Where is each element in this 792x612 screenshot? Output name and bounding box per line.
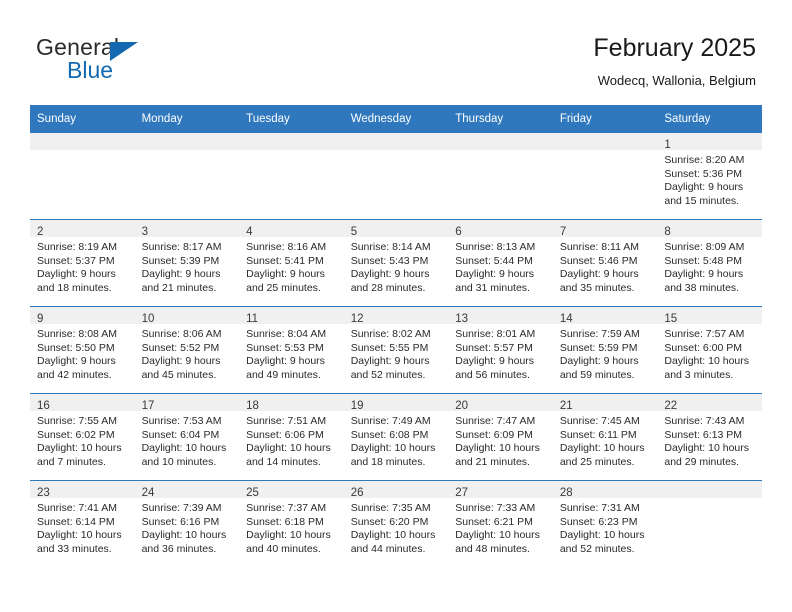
daylight-duration-line1: Daylight: 10 hours xyxy=(560,529,652,543)
day-number-band: 27 xyxy=(448,481,553,498)
daylight-duration-line2: and 49 minutes. xyxy=(246,369,338,383)
day-number-band: 12 xyxy=(344,307,449,324)
day-details: Sunrise: 7:47 AMSunset: 6:09 PMDaylight:… xyxy=(448,411,553,469)
day-details: Sunrise: 8:06 AMSunset: 5:52 PMDaylight:… xyxy=(135,324,240,382)
daylight-duration-line2: and 25 minutes. xyxy=(560,456,652,470)
calendar-day-cell-empty xyxy=(30,133,135,220)
day-number: 19 xyxy=(351,400,364,412)
day-number: 28 xyxy=(560,487,573,499)
calendar-body: 1Sunrise: 8:20 AMSunset: 5:36 PMDaylight… xyxy=(30,133,762,567)
day-details: Sunrise: 8:11 AMSunset: 5:46 PMDaylight:… xyxy=(553,237,658,295)
day-details: Sunrise: 8:04 AMSunset: 5:53 PMDaylight:… xyxy=(239,324,344,382)
sunrise-time: Sunrise: 7:47 AM xyxy=(455,415,547,429)
day-number-band xyxy=(135,133,240,150)
daylight-duration-line2: and 56 minutes. xyxy=(455,369,547,383)
day-number-band xyxy=(553,133,658,150)
calendar-day-cell[interactable]: 21Sunrise: 7:45 AMSunset: 6:11 PMDayligh… xyxy=(553,394,658,481)
daylight-duration-line2: and 25 minutes. xyxy=(246,282,338,296)
day-number-band: 28 xyxy=(553,481,658,498)
calendar-week-row: 2Sunrise: 8:19 AMSunset: 5:37 PMDaylight… xyxy=(30,220,762,307)
calendar-day-cell[interactable]: 18Sunrise: 7:51 AMSunset: 6:06 PMDayligh… xyxy=(239,394,344,481)
sunrise-time: Sunrise: 7:55 AM xyxy=(37,415,129,429)
sunrise-time: Sunrise: 7:41 AM xyxy=(37,502,129,516)
daylight-duration-line1: Daylight: 9 hours xyxy=(246,355,338,369)
daylight-duration-line1: Daylight: 9 hours xyxy=(455,355,547,369)
weekday-header-sunday: Sunday xyxy=(30,105,135,133)
sunset-time: Sunset: 6:16 PM xyxy=(142,516,234,530)
weekday-header-row: Sunday Monday Tuesday Wednesday Thursday… xyxy=(30,105,762,133)
sunrise-time: Sunrise: 7:49 AM xyxy=(351,415,443,429)
daylight-duration-line2: and 18 minutes. xyxy=(351,456,443,470)
daylight-duration-line2: and 28 minutes. xyxy=(351,282,443,296)
daylight-duration-line1: Daylight: 9 hours xyxy=(142,268,234,282)
day-number-band: 22 xyxy=(657,394,762,411)
weekday-header-saturday: Saturday xyxy=(657,105,762,133)
calendar-day-cell[interactable]: 1Sunrise: 8:20 AMSunset: 5:36 PMDaylight… xyxy=(657,133,762,220)
day-number: 17 xyxy=(142,400,155,412)
sunset-time: Sunset: 6:06 PM xyxy=(246,429,338,443)
day-details: Sunrise: 7:57 AMSunset: 6:00 PMDaylight:… xyxy=(657,324,762,382)
day-details: Sunrise: 7:39 AMSunset: 6:16 PMDaylight:… xyxy=(135,498,240,556)
daylight-duration-line2: and 10 minutes. xyxy=(142,456,234,470)
daylight-duration-line1: Daylight: 10 hours xyxy=(351,442,443,456)
calendar-day-cell[interactable]: 10Sunrise: 8:06 AMSunset: 5:52 PMDayligh… xyxy=(135,307,240,394)
day-details: Sunrise: 8:09 AMSunset: 5:48 PMDaylight:… xyxy=(657,237,762,295)
day-number: 8 xyxy=(664,226,670,238)
daylight-duration-line2: and 45 minutes. xyxy=(142,369,234,383)
daylight-duration-line2: and 44 minutes. xyxy=(351,543,443,557)
day-number-band: 7 xyxy=(553,220,658,237)
calendar-day-cell-empty xyxy=(448,133,553,220)
sunrise-time: Sunrise: 7:39 AM xyxy=(142,502,234,516)
sunrise-time: Sunrise: 7:51 AM xyxy=(246,415,338,429)
sunset-time: Sunset: 6:00 PM xyxy=(664,342,756,356)
daylight-duration-line1: Daylight: 10 hours xyxy=(455,529,547,543)
day-details: Sunrise: 8:20 AMSunset: 5:36 PMDaylight:… xyxy=(657,150,762,208)
sunset-time: Sunset: 5:39 PM xyxy=(142,255,234,269)
sunrise-time: Sunrise: 8:20 AM xyxy=(664,154,756,168)
day-details: Sunrise: 7:33 AMSunset: 6:21 PMDaylight:… xyxy=(448,498,553,556)
day-number: 4 xyxy=(246,226,252,238)
day-number-band xyxy=(344,133,449,150)
calendar-day-cell[interactable]: 26Sunrise: 7:35 AMSunset: 6:20 PMDayligh… xyxy=(344,481,449,568)
sunrise-time: Sunrise: 8:01 AM xyxy=(455,328,547,342)
weekday-header-monday: Monday xyxy=(135,105,240,133)
day-number-band xyxy=(657,481,762,498)
daylight-duration-line2: and 59 minutes. xyxy=(560,369,652,383)
sunrise-time: Sunrise: 8:08 AM xyxy=(37,328,129,342)
daylight-duration-line2: and 52 minutes. xyxy=(560,543,652,557)
daylight-duration-line1: Daylight: 9 hours xyxy=(560,355,652,369)
page-title: February 2025 xyxy=(336,34,756,63)
day-number-band: 8 xyxy=(657,220,762,237)
day-number: 9 xyxy=(37,313,43,325)
calendar-day-cell[interactable]: 20Sunrise: 7:47 AMSunset: 6:09 PMDayligh… xyxy=(448,394,553,481)
sunset-time: Sunset: 6:11 PM xyxy=(560,429,652,443)
sunset-time: Sunset: 5:48 PM xyxy=(664,255,756,269)
sunrise-time: Sunrise: 7:31 AM xyxy=(560,502,652,516)
daylight-duration-line2: and 21 minutes. xyxy=(455,456,547,470)
day-number-band: 3 xyxy=(135,220,240,237)
daylight-duration-line1: Daylight: 10 hours xyxy=(455,442,547,456)
sunrise-time: Sunrise: 8:09 AM xyxy=(664,241,756,255)
sunset-time: Sunset: 6:02 PM xyxy=(37,429,129,443)
calendar-day-cell[interactable]: 22Sunrise: 7:43 AMSunset: 6:13 PMDayligh… xyxy=(657,394,762,481)
daylight-duration-line1: Daylight: 9 hours xyxy=(37,268,129,282)
day-details: Sunrise: 7:35 AMSunset: 6:20 PMDaylight:… xyxy=(344,498,449,556)
sunset-time: Sunset: 6:20 PM xyxy=(351,516,443,530)
day-details: Sunrise: 8:17 AMSunset: 5:39 PMDaylight:… xyxy=(135,237,240,295)
day-details: Sunrise: 7:43 AMSunset: 6:13 PMDaylight:… xyxy=(657,411,762,469)
sunrise-time: Sunrise: 7:59 AM xyxy=(560,328,652,342)
day-details: Sunrise: 7:59 AMSunset: 5:59 PMDaylight:… xyxy=(553,324,658,382)
logo-triangle-icon xyxy=(110,42,138,61)
daylight-duration-line1: Daylight: 9 hours xyxy=(142,355,234,369)
calendar-day-cell[interactable]: 3Sunrise: 8:17 AMSunset: 5:39 PMDaylight… xyxy=(135,220,240,307)
day-details: Sunrise: 8:02 AMSunset: 5:55 PMDaylight:… xyxy=(344,324,449,382)
day-number: 7 xyxy=(560,226,566,238)
day-details: Sunrise: 8:01 AMSunset: 5:57 PMDaylight:… xyxy=(448,324,553,382)
general-blue-logo[interactable]: General Blue xyxy=(36,36,256,88)
day-number-band: 18 xyxy=(239,394,344,411)
day-number: 1 xyxy=(664,139,670,151)
day-details: Sunrise: 8:16 AMSunset: 5:41 PMDaylight:… xyxy=(239,237,344,295)
day-number-band: 24 xyxy=(135,481,240,498)
calendar-day-cell[interactable]: 6Sunrise: 8:13 AMSunset: 5:44 PMDaylight… xyxy=(448,220,553,307)
calendar-day-cell[interactable]: 24Sunrise: 7:39 AMSunset: 6:16 PMDayligh… xyxy=(135,481,240,568)
daylight-duration-line2: and 38 minutes. xyxy=(664,282,756,296)
daylight-duration-line1: Daylight: 9 hours xyxy=(37,355,129,369)
sunset-time: Sunset: 5:41 PM xyxy=(246,255,338,269)
daylight-duration-line1: Daylight: 9 hours xyxy=(246,268,338,282)
day-number-band: 4 xyxy=(239,220,344,237)
day-details: Sunrise: 8:08 AMSunset: 5:50 PMDaylight:… xyxy=(30,324,135,382)
day-number-band xyxy=(30,133,135,150)
daylight-duration-line2: and 35 minutes. xyxy=(560,282,652,296)
daylight-duration-line2: and 15 minutes. xyxy=(664,195,756,209)
weekday-header-thursday: Thursday xyxy=(448,105,553,133)
sunset-time: Sunset: 5:50 PM xyxy=(37,342,129,356)
logo-text-blue: Blue xyxy=(67,59,113,82)
calendar-day-cell[interactable]: 13Sunrise: 8:01 AMSunset: 5:57 PMDayligh… xyxy=(448,307,553,394)
calendar-day-cell-empty xyxy=(135,133,240,220)
sunrise-time: Sunrise: 7:57 AM xyxy=(664,328,756,342)
day-number-band: 25 xyxy=(239,481,344,498)
day-number: 6 xyxy=(455,226,461,238)
day-number: 23 xyxy=(37,487,50,499)
day-details: Sunrise: 7:49 AMSunset: 6:08 PMDaylight:… xyxy=(344,411,449,469)
calendar-day-cell[interactable]: 14Sunrise: 7:59 AMSunset: 5:59 PMDayligh… xyxy=(553,307,658,394)
day-number: 21 xyxy=(560,400,573,412)
day-number-band: 6 xyxy=(448,220,553,237)
sunset-time: Sunset: 5:46 PM xyxy=(560,255,652,269)
day-number-band: 26 xyxy=(344,481,449,498)
day-number: 25 xyxy=(246,487,259,499)
daylight-duration-line1: Daylight: 9 hours xyxy=(351,268,443,282)
sunset-time: Sunset: 5:53 PM xyxy=(246,342,338,356)
sunrise-time: Sunrise: 8:17 AM xyxy=(142,241,234,255)
sunset-time: Sunset: 6:13 PM xyxy=(664,429,756,443)
daylight-duration-line1: Daylight: 9 hours xyxy=(664,181,756,195)
daylight-duration-line1: Daylight: 9 hours xyxy=(351,355,443,369)
day-number: 2 xyxy=(37,226,43,238)
day-number: 20 xyxy=(455,400,468,412)
sunset-time: Sunset: 5:44 PM xyxy=(455,255,547,269)
daylight-duration-line1: Daylight: 10 hours xyxy=(246,529,338,543)
sunrise-time: Sunrise: 7:37 AM xyxy=(246,502,338,516)
calendar-day-cell[interactable]: 9Sunrise: 8:08 AMSunset: 5:50 PMDaylight… xyxy=(30,307,135,394)
day-number-band: 21 xyxy=(553,394,658,411)
daylight-duration-line2: and 14 minutes. xyxy=(246,456,338,470)
calendar-day-cell[interactable]: 2Sunrise: 8:19 AMSunset: 5:37 PMDaylight… xyxy=(30,220,135,307)
day-details: Sunrise: 7:51 AMSunset: 6:06 PMDaylight:… xyxy=(239,411,344,469)
sunset-time: Sunset: 6:23 PM xyxy=(560,516,652,530)
day-number-band: 16 xyxy=(30,394,135,411)
sunrise-time: Sunrise: 8:19 AM xyxy=(37,241,129,255)
calendar-week-row: 23Sunrise: 7:41 AMSunset: 6:14 PMDayligh… xyxy=(30,481,762,568)
calendar-day-cell[interactable]: 16Sunrise: 7:55 AMSunset: 6:02 PMDayligh… xyxy=(30,394,135,481)
daylight-duration-line1: Daylight: 10 hours xyxy=(664,442,756,456)
day-details: Sunrise: 7:55 AMSunset: 6:02 PMDaylight:… xyxy=(30,411,135,469)
location-subtitle: Wodecq, Wallonia, Belgium xyxy=(336,73,756,88)
day-number-band: 19 xyxy=(344,394,449,411)
daylight-duration-line2: and 40 minutes. xyxy=(246,543,338,557)
sunset-time: Sunset: 5:57 PM xyxy=(455,342,547,356)
daylight-duration-line1: Daylight: 10 hours xyxy=(37,442,129,456)
day-number: 27 xyxy=(455,487,468,499)
sunset-time: Sunset: 6:09 PM xyxy=(455,429,547,443)
day-number: 3 xyxy=(142,226,148,238)
day-number: 26 xyxy=(351,487,364,499)
daylight-duration-line2: and 36 minutes. xyxy=(142,543,234,557)
sunrise-time: Sunrise: 7:33 AM xyxy=(455,502,547,516)
daylight-duration-line1: Daylight: 10 hours xyxy=(560,442,652,456)
calendar-table: Sunday Monday Tuesday Wednesday Thursday… xyxy=(30,105,762,567)
calendar-week-row: 1Sunrise: 8:20 AMSunset: 5:36 PMDaylight… xyxy=(30,133,762,220)
sunrise-time: Sunrise: 8:11 AM xyxy=(560,241,652,255)
daylight-duration-line1: Daylight: 9 hours xyxy=(455,268,547,282)
calendar-day-cell[interactable]: 23Sunrise: 7:41 AMSunset: 6:14 PMDayligh… xyxy=(30,481,135,568)
day-number-band: 1 xyxy=(657,133,762,150)
sunrise-time: Sunrise: 8:02 AM xyxy=(351,328,443,342)
weekday-header-tuesday: Tuesday xyxy=(239,105,344,133)
sunrise-time: Sunrise: 8:13 AM xyxy=(455,241,547,255)
day-number: 14 xyxy=(560,313,573,325)
day-number-band xyxy=(448,133,553,150)
daylight-duration-line1: Daylight: 10 hours xyxy=(142,529,234,543)
calendar-day-cell[interactable]: 11Sunrise: 8:04 AMSunset: 5:53 PMDayligh… xyxy=(239,307,344,394)
sunset-time: Sunset: 5:55 PM xyxy=(351,342,443,356)
day-number-band: 2 xyxy=(30,220,135,237)
daylight-duration-line2: and 29 minutes. xyxy=(664,456,756,470)
calendar-page: General Blue February 2025 Wodecq, Wallo… xyxy=(0,0,792,612)
daylight-duration-line2: and 31 minutes. xyxy=(455,282,547,296)
sunset-time: Sunset: 6:18 PM xyxy=(246,516,338,530)
day-number-band: 17 xyxy=(135,394,240,411)
day-number-band: 23 xyxy=(30,481,135,498)
calendar-day-cell[interactable]: 5Sunrise: 8:14 AMSunset: 5:43 PMDaylight… xyxy=(344,220,449,307)
sunset-time: Sunset: 5:37 PM xyxy=(37,255,129,269)
day-number: 11 xyxy=(246,313,258,325)
daylight-duration-line2: and 21 minutes. xyxy=(142,282,234,296)
day-number: 22 xyxy=(664,400,677,412)
title-block: February 2025 Wodecq, Wallonia, Belgium xyxy=(336,34,756,88)
daylight-duration-line1: Daylight: 10 hours xyxy=(351,529,443,543)
day-details: Sunrise: 8:14 AMSunset: 5:43 PMDaylight:… xyxy=(344,237,449,295)
sunset-time: Sunset: 6:21 PM xyxy=(455,516,547,530)
daylight-duration-line2: and 42 minutes. xyxy=(37,369,129,383)
sunrise-time: Sunrise: 8:04 AM xyxy=(246,328,338,342)
day-number-band: 13 xyxy=(448,307,553,324)
calendar-day-cell[interactable]: 27Sunrise: 7:33 AMSunset: 6:21 PMDayligh… xyxy=(448,481,553,568)
calendar-day-cell[interactable]: 25Sunrise: 7:37 AMSunset: 6:18 PMDayligh… xyxy=(239,481,344,568)
daylight-duration-line1: Daylight: 10 hours xyxy=(37,529,129,543)
daylight-duration-line1: Daylight: 10 hours xyxy=(664,355,756,369)
sunrise-time: Sunrise: 8:06 AM xyxy=(142,328,234,342)
day-number-band: 11 xyxy=(239,307,344,324)
sunrise-time: Sunrise: 7:53 AM xyxy=(142,415,234,429)
logo-text-general: General xyxy=(36,36,119,59)
calendar-day-cell[interactable]: 28Sunrise: 7:31 AMSunset: 6:23 PMDayligh… xyxy=(553,481,658,568)
day-number-band: 9 xyxy=(30,307,135,324)
calendar-day-cell[interactable]: 17Sunrise: 7:53 AMSunset: 6:04 PMDayligh… xyxy=(135,394,240,481)
day-number: 13 xyxy=(455,313,468,325)
daylight-duration-line2: and 52 minutes. xyxy=(351,369,443,383)
calendar-day-cell[interactable]: 12Sunrise: 8:02 AMSunset: 5:55 PMDayligh… xyxy=(344,307,449,394)
day-details: Sunrise: 7:41 AMSunset: 6:14 PMDaylight:… xyxy=(30,498,135,556)
sunset-time: Sunset: 5:59 PM xyxy=(560,342,652,356)
daylight-duration-line1: Daylight: 10 hours xyxy=(246,442,338,456)
sunrise-time: Sunrise: 7:45 AM xyxy=(560,415,652,429)
daylight-duration-line1: Daylight: 10 hours xyxy=(142,442,234,456)
sunrise-time: Sunrise: 8:14 AM xyxy=(351,241,443,255)
daylight-duration-line1: Daylight: 9 hours xyxy=(560,268,652,282)
calendar-day-cell[interactable]: 8Sunrise: 8:09 AMSunset: 5:48 PMDaylight… xyxy=(657,220,762,307)
day-details: Sunrise: 7:37 AMSunset: 6:18 PMDaylight:… xyxy=(239,498,344,556)
day-number-band xyxy=(239,133,344,150)
sunset-time: Sunset: 5:36 PM xyxy=(664,168,756,182)
sunset-time: Sunset: 5:43 PM xyxy=(351,255,443,269)
day-number: 24 xyxy=(142,487,155,499)
day-number-band: 5 xyxy=(344,220,449,237)
sunrise-time: Sunrise: 8:16 AM xyxy=(246,241,338,255)
day-details: Sunrise: 7:45 AMSunset: 6:11 PMDaylight:… xyxy=(553,411,658,469)
sunrise-time: Sunrise: 7:35 AM xyxy=(351,502,443,516)
day-number: 5 xyxy=(351,226,357,238)
day-details: Sunrise: 7:53 AMSunset: 6:04 PMDaylight:… xyxy=(135,411,240,469)
daylight-duration-line2: and 33 minutes. xyxy=(37,543,129,557)
calendar-day-cell-empty xyxy=(239,133,344,220)
page-header: General Blue February 2025 Wodecq, Wallo… xyxy=(0,0,792,100)
day-number: 15 xyxy=(664,313,677,325)
sunset-time: Sunset: 5:52 PM xyxy=(142,342,234,356)
day-details: Sunrise: 7:31 AMSunset: 6:23 PMDaylight:… xyxy=(553,498,658,556)
calendar-day-cell[interactable]: 19Sunrise: 7:49 AMSunset: 6:08 PMDayligh… xyxy=(344,394,449,481)
calendar-day-cell[interactable]: 4Sunrise: 8:16 AMSunset: 5:41 PMDaylight… xyxy=(239,220,344,307)
day-number: 10 xyxy=(142,313,155,325)
calendar-day-cell-empty xyxy=(344,133,449,220)
day-number-band: 15 xyxy=(657,307,762,324)
daylight-duration-line2: and 3 minutes. xyxy=(664,369,756,383)
day-number-band: 10 xyxy=(135,307,240,324)
daylight-duration-line2: and 48 minutes. xyxy=(455,543,547,557)
day-details: Sunrise: 8:13 AMSunset: 5:44 PMDaylight:… xyxy=(448,237,553,295)
day-number: 16 xyxy=(37,400,50,412)
weekday-header-wednesday: Wednesday xyxy=(344,105,449,133)
calendar-day-cell[interactable]: 15Sunrise: 7:57 AMSunset: 6:00 PMDayligh… xyxy=(657,307,762,394)
calendar-day-cell-empty xyxy=(657,481,762,568)
calendar-day-cell[interactable]: 7Sunrise: 8:11 AMSunset: 5:46 PMDaylight… xyxy=(553,220,658,307)
sunrise-time: Sunrise: 7:43 AM xyxy=(664,415,756,429)
sunset-time: Sunset: 6:08 PM xyxy=(351,429,443,443)
day-number-band: 20 xyxy=(448,394,553,411)
sunset-time: Sunset: 6:14 PM xyxy=(37,516,129,530)
calendar-week-row: 16Sunrise: 7:55 AMSunset: 6:02 PMDayligh… xyxy=(30,394,762,481)
day-details: Sunrise: 8:19 AMSunset: 5:37 PMDaylight:… xyxy=(30,237,135,295)
daylight-duration-line2: and 18 minutes. xyxy=(37,282,129,296)
calendar-day-cell-empty xyxy=(553,133,658,220)
calendar-week-row: 9Sunrise: 8:08 AMSunset: 5:50 PMDaylight… xyxy=(30,307,762,394)
day-number: 12 xyxy=(351,313,364,325)
day-number-band: 14 xyxy=(553,307,658,324)
weekday-header-friday: Friday xyxy=(553,105,658,133)
day-number: 18 xyxy=(246,400,259,412)
daylight-duration-line1: Daylight: 9 hours xyxy=(664,268,756,282)
sunset-time: Sunset: 6:04 PM xyxy=(142,429,234,443)
daylight-duration-line2: and 7 minutes. xyxy=(37,456,129,470)
